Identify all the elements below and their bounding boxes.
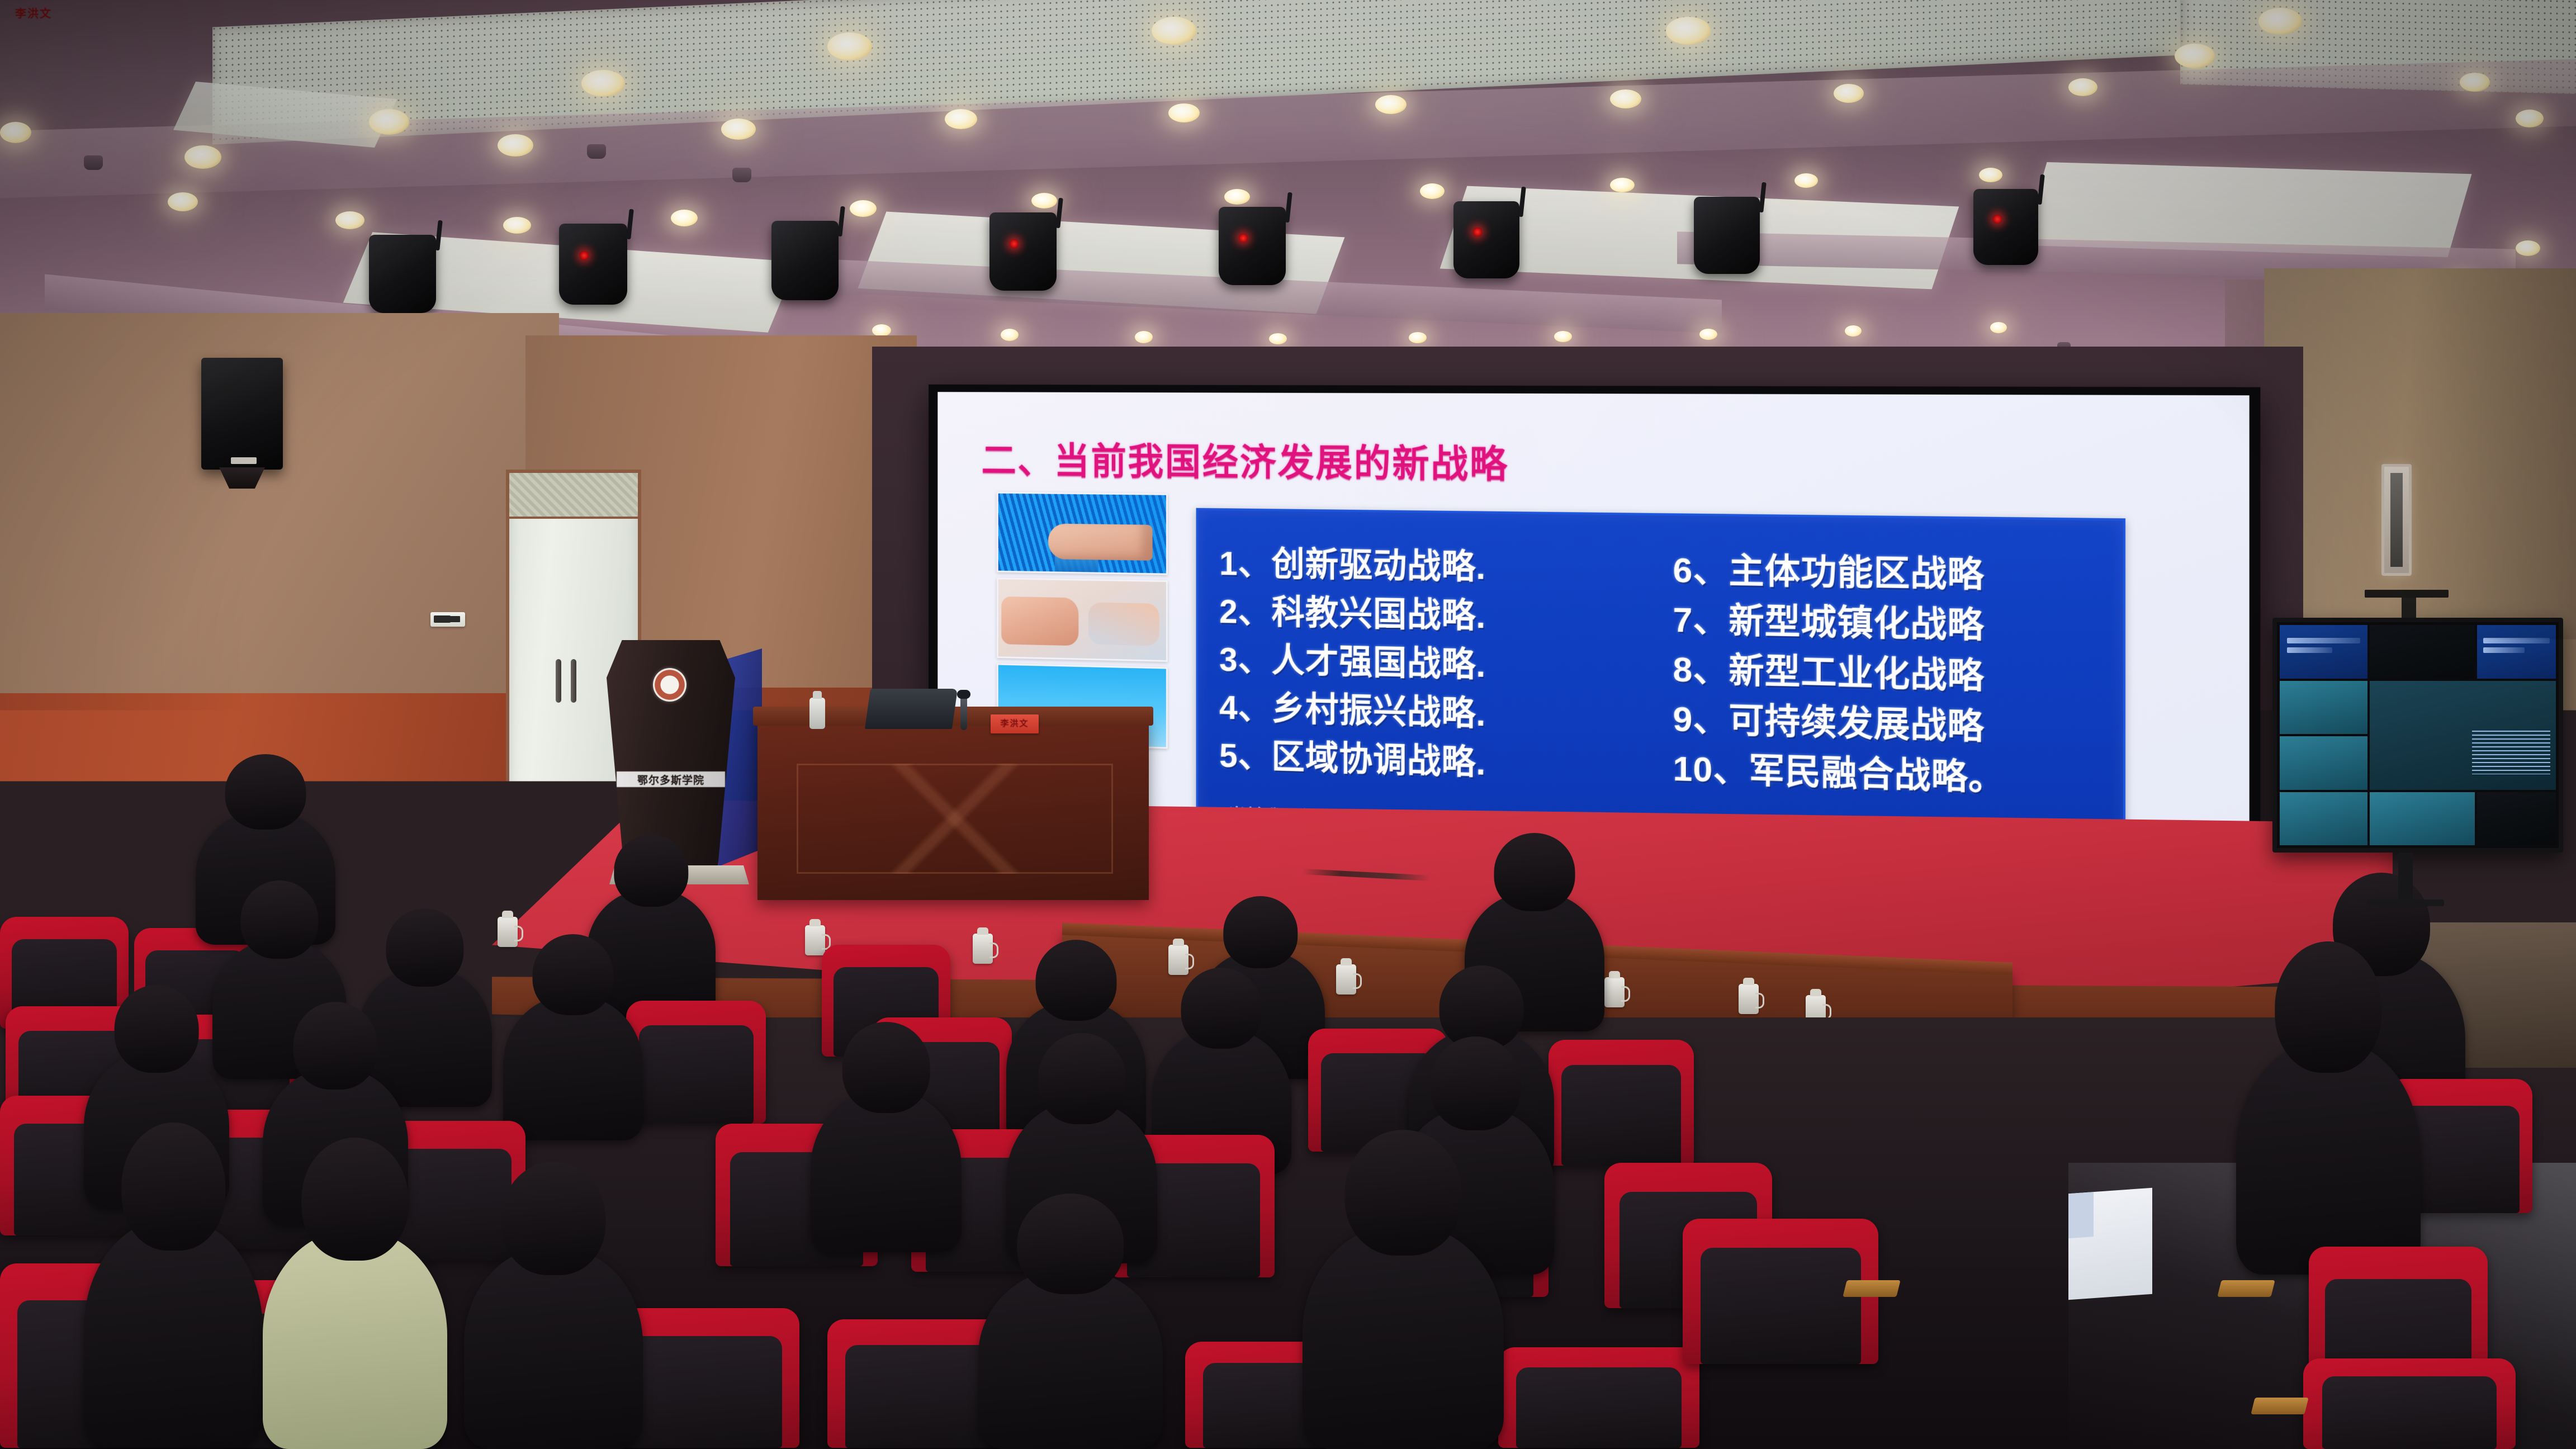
spotlight-indicator-led [1473, 228, 1482, 236]
ceiling-downlight [2175, 44, 2215, 68]
ceiling-downlight [1031, 193, 1057, 209]
cctv-pane [2370, 792, 2475, 846]
cctv-pane [2477, 792, 2556, 846]
ceiling-downlight [827, 32, 872, 60]
ceiling-downlight [369, 109, 409, 135]
stage-spotlight [1694, 197, 1760, 274]
ceiling-downlight [671, 210, 698, 226]
ceiling-downlight [1794, 173, 1818, 188]
stage-spotlight [369, 235, 436, 313]
auditorium-scene: 二、当前我国经济发展的新战略 1、创新驱动战略. 6、主体功能区战略 2、科教兴… [0, 0, 2576, 1449]
audience-head [121, 1123, 225, 1251]
ceiling-downlight [168, 192, 198, 211]
institution-emblem [653, 668, 686, 702]
wall-mounted-speaker [201, 358, 283, 470]
audience-member [978, 1269, 1163, 1449]
audience-seat[interactable] [2303, 1358, 2516, 1449]
ceiling-downlight [1699, 329, 1717, 340]
microphone[interactable] [960, 695, 967, 730]
smoke-detector [587, 144, 606, 159]
monitor-mount-bracket [2365, 590, 2449, 598]
ceiling-downlight [0, 122, 31, 143]
ceiling-downlight [1168, 103, 1200, 122]
cctv-pane-main [2370, 681, 2556, 790]
cctv-pane-caption [2483, 647, 2524, 653]
spotlight-indicator-led [1239, 234, 1248, 243]
ceiling-downlight [850, 200, 877, 217]
thermos-flask [809, 698, 825, 729]
ceiling-downlight [872, 324, 891, 337]
floor-paper-sheet [2068, 1188, 2152, 1300]
cctv-pane [2280, 736, 2367, 790]
audience-member-light-coat [263, 1230, 447, 1449]
ceiling-downlight [2516, 110, 2544, 127]
ceiling-downlight [1610, 178, 1635, 192]
cctv-pane [2477, 625, 2556, 679]
ceiling-downlight [1610, 89, 1641, 108]
audience-head [386, 908, 463, 987]
audience-member [1303, 1224, 1504, 1449]
stage-spotlight [1219, 207, 1286, 285]
slide-title: 二、当前我国经济发展的新战略 [982, 430, 1509, 489]
audience-head [240, 880, 318, 959]
tea-cup [1604, 977, 1625, 1007]
stage-spotlight [771, 221, 839, 300]
ceiling-downlight [1152, 17, 1196, 45]
lectern-podium[interactable]: 鄂尔多斯学院 [607, 640, 735, 875]
cctv-pane-caption [2287, 638, 2361, 643]
audience-member [464, 1247, 643, 1449]
spotlight-yoke [1285, 192, 1292, 223]
ceiling-downlight [1001, 329, 1019, 341]
cctv-pane-caption [2483, 638, 2550, 643]
audience-head [1036, 940, 1117, 1021]
strategy-right-item: 8、新型工业化战略 [1673, 641, 1984, 699]
audience-head [614, 835, 688, 907]
strategy-right-item: 10、军民融合战略。 [1673, 740, 2005, 801]
ceiling-downlight [1554, 331, 1572, 342]
stage-spotlight [1453, 201, 1519, 278]
audience-seat[interactable] [1498, 1347, 1699, 1448]
monitor-stand [2398, 853, 2413, 901]
laptop[interactable] [865, 689, 958, 729]
ceiling-downlight [2258, 8, 2302, 35]
audience-member [84, 1219, 263, 1448]
ceiling-downlight [1224, 189, 1250, 205]
tea-cup [973, 934, 993, 964]
ceiling-downlight [1666, 17, 1711, 45]
tea-cup [805, 925, 825, 955]
strategy-right-item: 6、主体功能区战略 [1673, 542, 1984, 598]
ceiling-downlight [1979, 168, 2002, 182]
audience-head [1488, 982, 1581, 1088]
smoke-detector [84, 155, 103, 170]
ceiling-downlight [184, 145, 221, 169]
ceiling-downlight [721, 119, 756, 140]
speaker-bracket [231, 457, 257, 464]
audience-head [1223, 896, 1298, 968]
photo-hands-signing-documents [997, 577, 1168, 662]
audience-head [1345, 1130, 1462, 1256]
audience-head [225, 754, 306, 829]
ceiling-downlight [2068, 78, 2097, 96]
audience-member [811, 1090, 962, 1252]
tea-cup [498, 917, 518, 947]
head-table [757, 716, 1149, 900]
audience-head [533, 934, 614, 1016]
podium-plate-text: 鄂尔多斯学院 [617, 771, 724, 787]
audience-head [842, 1022, 930, 1112]
ceiling-downlight [1135, 331, 1153, 343]
audience-head [293, 1002, 378, 1090]
audience-seat[interactable] [626, 1001, 766, 1124]
audience-head [301, 1138, 408, 1261]
tea-cup [1336, 964, 1356, 995]
ceiling-downlight [945, 109, 977, 129]
stage-spotlight [559, 224, 627, 305]
strategy-left-item: 1、创新驱动战略. [1219, 536, 1673, 592]
stage-spotlight [1973, 189, 2038, 265]
ceiling-downlight [503, 217, 531, 234]
spotlight-indicator-led [1010, 239, 1019, 248]
cctv-pane [2280, 792, 2367, 846]
ceiling-downlight [2460, 73, 2490, 92]
spotlight-yoke [626, 209, 634, 240]
ceiling-downlight [581, 70, 625, 97]
audience-head [1181, 968, 1262, 1049]
door-handle-icon[interactable] [556, 659, 561, 703]
ceiling-downlight [498, 134, 533, 157]
ceiling-downlight [1375, 95, 1407, 114]
audience-member [1453, 1062, 1616, 1252]
ceiling-downlight [1990, 322, 2007, 333]
spotlight-indicator-led [580, 251, 589, 260]
cctv-pane [2370, 625, 2475, 679]
photo-hand-writing-blue-city [997, 492, 1168, 575]
spotlight-indicator-led [1993, 215, 2002, 224]
seat-writing-tablet [2251, 1398, 2308, 1414]
light-switch[interactable] [430, 612, 465, 627]
ceiling-downlight [1834, 84, 1864, 103]
smoke-detector [732, 168, 751, 182]
audience-head [501, 1162, 605, 1275]
ceiling-downlight [1845, 325, 1862, 337]
ceiling-downlight [1420, 183, 1445, 199]
audience-head [1038, 1033, 1126, 1124]
ceiling-downlight [335, 211, 364, 229]
door-handle-icon[interactable] [571, 659, 576, 703]
tea-cup [1739, 984, 1759, 1014]
seat-writing-tablet [2217, 1280, 2275, 1297]
cctv-multiview-monitor[interactable] [2272, 618, 2563, 853]
name-placard: 李洪文 [0, 0, 67, 28]
audience-head [115, 985, 199, 1073]
name-placard: 李洪文 [991, 714, 1039, 733]
door-transom-window [509, 473, 638, 519]
cctv-pane-caption [2287, 647, 2333, 653]
head-table-carved-panel [797, 764, 1113, 874]
wall-lamp-fixture [2381, 464, 2412, 576]
seat-writing-tablet [1843, 1280, 1900, 1297]
cctv-text-lines [2472, 731, 2550, 774]
ceiling-downlight [2516, 240, 2540, 256]
audience-head [1017, 1194, 1124, 1294]
ceiling-downlight [1269, 333, 1287, 344]
audience-member [2236, 1040, 2421, 1275]
strategy-right-item: 7、新型城镇化战略 [1673, 591, 1984, 648]
audience-head [1494, 833, 1575, 911]
audience-member [503, 995, 643, 1140]
ceiling-downlight [1409, 332, 1427, 343]
cctv-pane [2280, 625, 2367, 679]
cctv-pane [2280, 681, 2367, 735]
tea-cup [1168, 945, 1188, 975]
stage-spotlight [989, 212, 1057, 291]
strategy-list-box: 1、创新驱动战略. 6、主体功能区战略 2、科教兴国战略. 7、新型城镇化战略 … [1196, 508, 2126, 850]
audience-head [2275, 941, 2381, 1073]
spotlight-yoke [837, 206, 845, 237]
